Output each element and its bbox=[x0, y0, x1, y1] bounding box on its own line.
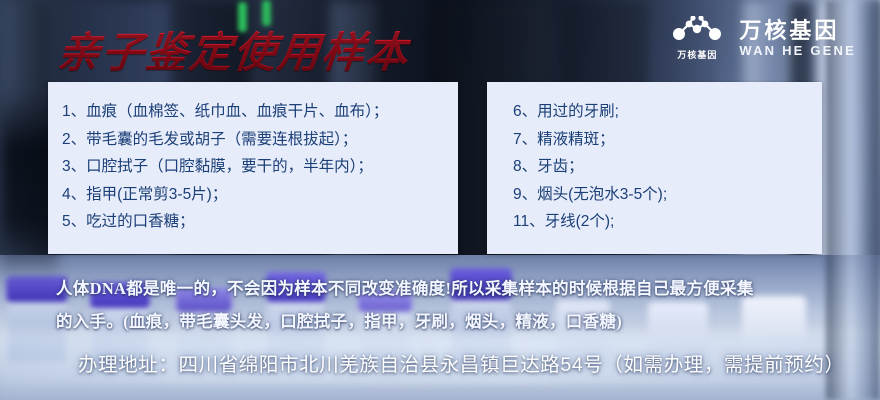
list-item: 11、牙线(2个); bbox=[513, 208, 822, 236]
description-paragraph: 人体DNA都是唯一的，不会因为样本不同改变准确度!所以采集样本的时候根据自己最方… bbox=[56, 272, 846, 338]
list-item: 1、血痕（血棉签、纸巾血、血痕干片、血布）； bbox=[62, 98, 458, 126]
sample-list-right: 6、用过的牙刷; 7、精液精斑； 8、牙齿； 9、烟头(无泡水3-5个); 11… bbox=[513, 98, 822, 236]
list-item: 8、牙齿； bbox=[513, 153, 822, 181]
list-item: 2、带毛囊的毛发或胡子（需要连根拔起）； bbox=[62, 126, 458, 154]
page-title: 亲子鉴定使用样本 bbox=[55, 19, 413, 80]
sample-list-panel-left: 1、血痕（血棉签、纸巾血、血痕干片、血布）； 2、带毛囊的毛发或胡子（需要连根拔… bbox=[48, 82, 458, 254]
list-item: 7、精液精斑； bbox=[513, 126, 822, 154]
list-item: 9、烟头(无泡水3-5个); bbox=[513, 181, 822, 209]
molecule-icon bbox=[669, 16, 725, 46]
logo-name-cn: 万核基因 bbox=[739, 19, 839, 42]
list-item: 3、口腔拭子（口腔黏膜，要干的，半年内）； bbox=[62, 153, 458, 181]
logo-mark-caption: 万核基因 bbox=[677, 48, 717, 61]
poster-canvas: 亲子鉴定使用样本 bbox=[0, 0, 880, 400]
list-item: 6、用过的牙刷; bbox=[513, 98, 822, 126]
logo-mark: 万核基因 bbox=[669, 16, 725, 61]
description-line-1: 人体DNA都是唯一的，不会因为样本不同改变准确度!所以采集样本的时候根据自己最方… bbox=[56, 272, 846, 305]
logo-wordmark: 万核基因 WAN HE GENE bbox=[739, 19, 856, 58]
brand-logo: 万核基因 万核基因 WAN HE GENE bbox=[669, 16, 856, 61]
logo-name-en: WAN HE GENE bbox=[739, 43, 856, 58]
description-line-2: 的入手。(血痕，带毛囊头发，口腔拭子，指甲，牙刷，烟头，精液，口香糖) bbox=[56, 305, 846, 338]
list-item: 4、指甲(正常剪3-5片)； bbox=[62, 181, 458, 209]
list-item: 5、吃过的口香糖； bbox=[62, 208, 458, 236]
sample-list-panel-right: 6、用过的牙刷; 7、精液精斑； 8、牙齿； 9、烟头(无泡水3-5个); 11… bbox=[487, 82, 822, 254]
office-address: 办理地址：四川省绵阳市北川羌族自治县永昌镇巨达路54号（如需办理，需提前预约） bbox=[78, 348, 845, 377]
sample-list-left: 1、血痕（血棉签、纸巾血、血痕干片、血布）； 2、带毛囊的毛发或胡子（需要连根拔… bbox=[62, 98, 458, 236]
